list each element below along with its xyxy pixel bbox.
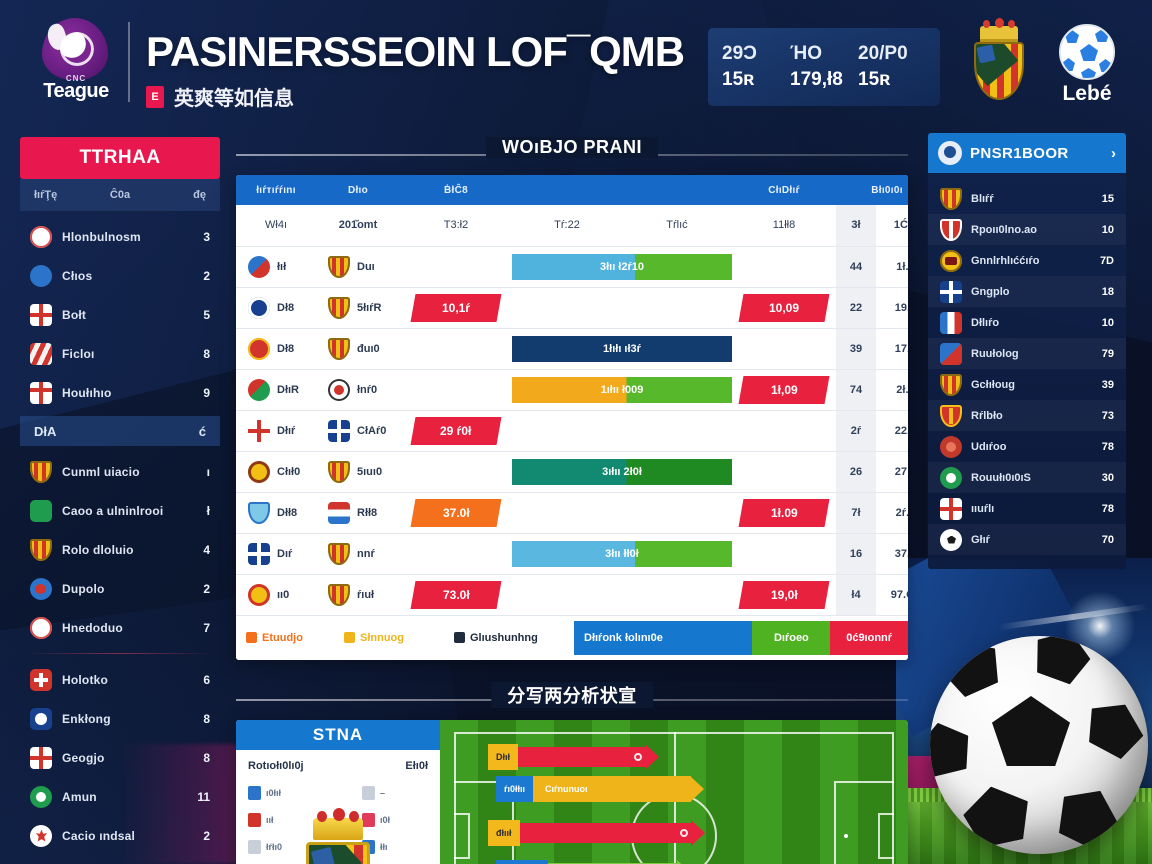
th-1[interactable]: łıŕтıŕŕını	[236, 175, 316, 205]
cell-c5	[622, 574, 732, 615]
list-item-label: Caoo a ulninlrooi	[62, 504, 197, 518]
list-item[interactable]: Cłıos 2	[20, 256, 220, 295]
team-badge-icon	[328, 379, 350, 401]
right-sidebar-title: PNSR1BOOR	[970, 145, 1103, 162]
cell-bar: 3ıłıı 2ł0ł	[512, 451, 732, 492]
team-b-label: CłAŕ0	[357, 425, 386, 437]
cell-c4	[512, 287, 622, 328]
formation-col-left-header: Rotıołı0lı0j	[248, 760, 304, 772]
team-b-label: nnŕ	[357, 548, 375, 560]
list-item-label: Rpoıı0lno.ao	[971, 224, 1093, 236]
list-item[interactable]: Holotko 6	[20, 660, 220, 699]
formation-section-header: 分写两分析状宣	[236, 682, 908, 716]
cell-team-b: CłAŕ0	[316, 410, 400, 451]
cell-h: 22.ł0	[876, 410, 908, 451]
left-sidebar-group-2: Cunml uiacio ı Caoo a ulninlrooi ł Rolo …	[20, 446, 220, 647]
cell-team-a: Dłł8	[236, 492, 316, 533]
cell-team-a: Dł8	[236, 287, 316, 328]
legend-item-1: Etuudjo	[246, 632, 344, 644]
item-label: –	[380, 788, 385, 798]
team-a-label: Dıŕ	[277, 548, 292, 560]
cell-team-a: Wł4ı	[236, 205, 316, 246]
arrow-endpoint-icon	[634, 753, 642, 761]
cell-team-b: 5łıŕR	[316, 287, 400, 328]
item-label: łłı	[380, 842, 388, 852]
list-item[interactable]: Rolo dloluio 4	[20, 530, 220, 569]
cell-c4	[512, 574, 622, 615]
cell-team-a: Cłıł0	[236, 451, 316, 492]
cell-left-pill: 10,1ŕ	[400, 287, 512, 328]
list-item[interactable]: Cunml uiacio ı	[20, 452, 220, 491]
list-item-label: Hlonbulnosm	[62, 230, 193, 244]
list-item[interactable]: Gcłıłoug 39	[928, 369, 1126, 400]
list-item[interactable]: Rpoıı0lno.ao 10	[928, 214, 1126, 245]
value-pill: 10,09	[739, 294, 830, 322]
red-round-icon	[940, 436, 962, 458]
team-a-label: DłıR	[277, 384, 299, 396]
club-shield-icon	[328, 256, 350, 278]
list-item-label: Gngplo	[971, 286, 1093, 298]
cell-team-a: ıı0	[236, 574, 316, 615]
cell-left-pill: 37.0ł	[400, 492, 512, 533]
right-sidebar: PNSR1BOOR › Blıŕŕ 15 Rpoıı0lno.ao 10 Gnn…	[928, 133, 1126, 569]
pitch-goal-left	[454, 813, 470, 859]
cell-bar: 1ıłıı ł009	[512, 369, 732, 410]
list-item-label: Dłlıŕo	[971, 317, 1093, 329]
tactic-tag: ŕı0łłıı	[496, 776, 533, 802]
list-item[interactable]: Gngplo 18	[928, 276, 1126, 307]
list-item[interactable]: –	[362, 780, 428, 807]
club-shield-icon	[328, 297, 350, 319]
green-ball-icon	[940, 467, 962, 489]
list-item[interactable]: Bołt 5	[20, 295, 220, 334]
team-badge-icon	[248, 379, 270, 401]
left-sidebar-group-1: Hlonbulnosm 3 Cłıos 2 Bołt 5 Ficloı 8 Ho…	[20, 211, 220, 412]
list-item[interactable]: Caoo a ulninlrooi ł	[20, 491, 220, 530]
list-item[interactable]: Dłlıŕo 10	[928, 307, 1126, 338]
list-item-label: Houłıhıo	[62, 386, 193, 400]
header-stat-3-bottom: 15ʀ	[858, 69, 926, 91]
france-round-icon	[940, 343, 962, 365]
cell-c6	[732, 533, 836, 574]
legend-bar-2: Dıŕoeo	[752, 621, 830, 655]
list-item-value: 7	[203, 621, 210, 635]
soccer-ball-icon[interactable]: Lebé	[1056, 24, 1118, 110]
list-item[interactable]: Geogjo 8	[20, 738, 220, 777]
cell-team-a: Dıŕ	[236, 533, 316, 574]
team-a-label: łıł	[277, 261, 286, 273]
team-a-label: Dłł8	[277, 507, 297, 519]
cell-g: 39	[836, 328, 876, 369]
legend-label: Słnnuog	[360, 632, 404, 644]
list-item-label: Rolo dloluio	[62, 543, 193, 557]
list-item-value: ł	[207, 504, 210, 518]
cell-c6: 11łł8	[732, 205, 836, 246]
team-badge-icon	[248, 584, 270, 606]
list-item-value: 30	[1102, 472, 1114, 484]
team-badge-icon	[248, 461, 270, 483]
th-7[interactable]: Błı0ı0ı	[836, 175, 908, 205]
table-title: WOıBJO PRANI	[486, 137, 658, 158]
team-a-label: Dł8	[277, 343, 294, 355]
pill-label: 1ł,09	[771, 383, 798, 397]
cell-h: 2ł.0ł	[876, 369, 908, 410]
shield-icon	[248, 502, 270, 524]
list-item[interactable]: Dupolo 2	[20, 569, 220, 608]
list-item[interactable]: Enkłong 8	[20, 699, 220, 738]
list-item-value: 10	[1102, 224, 1114, 236]
cell-team-b: ŕıuł	[316, 574, 400, 615]
korea-round-icon	[30, 578, 52, 600]
marker-icon	[248, 840, 261, 854]
cell-c4	[512, 492, 622, 533]
item-label: łŕłı0	[266, 842, 282, 852]
th-4[interactable]	[512, 175, 622, 205]
list-item-value: 2	[203, 269, 210, 283]
red-shield-icon	[940, 219, 962, 241]
list-item-label: Cacio ındsal	[62, 829, 193, 843]
list-item-label: Cunml uiacio	[62, 465, 197, 479]
list-item-value: 8	[203, 751, 210, 765]
cell-h: 27 ł0	[876, 451, 908, 492]
cell-c3	[400, 328, 512, 369]
cell-c3	[400, 246, 512, 287]
formation-lists: ı0łıł ııł łŕłı0 ŕıı0ł – Rmoluol – ı0ł łł…	[248, 772, 428, 864]
list-item-label: Amun	[62, 790, 187, 804]
cell-g: 44	[836, 246, 876, 287]
cell-c4: Tŕ:22	[512, 205, 622, 246]
cell-g: 7ł	[836, 492, 876, 533]
club-shield-icon	[940, 374, 962, 396]
header-stat-3-top: 20/P0	[858, 43, 926, 65]
cell-c3	[400, 369, 512, 410]
club-crest-icon	[297, 818, 379, 864]
formation-side-panel: STNA Rotıołı0lı0j Ełı0ł ı0łıł ııł łŕłı0 …	[236, 720, 440, 864]
cell-c6	[732, 410, 836, 451]
chevron-right-icon[interactable]: ›	[1111, 145, 1116, 162]
pill-label: 19,0ł	[771, 588, 798, 602]
value-pill: 73.0ł	[411, 581, 502, 609]
formation-section: 分写两分析状宣 STNA Rotıołı0lı0j Ełı0ł ı0łıł ıı…	[236, 682, 908, 864]
header-subtitle-row: E 英爽等如信息	[146, 82, 294, 111]
subheader-label: DłA	[34, 424, 56, 439]
table-row[interactable]: ıı0 ŕıuł 73.0ł 19,0ł	[236, 574, 908, 615]
finland-icon	[30, 708, 52, 730]
ball-red-icon	[30, 617, 52, 639]
lsb-col-2: Ĉ0a	[91, 189, 148, 201]
pill-label: 29 ŕ0ł	[440, 424, 471, 438]
header-stat-2-bottom: 179,ł8	[790, 69, 858, 91]
logo-text: Teague	[30, 80, 122, 103]
team-b-label: Rłł8	[357, 507, 377, 519]
cell-g: 16	[836, 533, 876, 574]
pill-label: 73.0ł	[443, 588, 470, 602]
cell-team-b: Duı	[316, 246, 400, 287]
tactic-arrow-2[interactable]: ŕı0łłıı Cıŕnunuoı	[496, 776, 691, 802]
list-item-label: ııuŕlı	[971, 503, 1093, 515]
player-avatar-icon	[938, 141, 962, 165]
tactic-arrow-bar	[520, 823, 692, 843]
pill-label: 10,09	[769, 301, 799, 315]
item-label: ı0łıł	[266, 788, 281, 798]
list-item-value: 5	[203, 308, 210, 322]
list-item[interactable]: Hlonbulnosm 3	[20, 217, 220, 256]
cell-team-a: łıł	[236, 246, 316, 287]
list-item-label: Rŕlbło	[971, 410, 1093, 422]
list-item-value: 70	[1102, 534, 1114, 546]
lsb-col-3: đę	[149, 189, 206, 201]
right-sidebar-list: Blıŕŕ 15 Rpoıı0lno.ao 10 Gnnlrhlıććıŕo 7…	[928, 173, 1126, 565]
list-item[interactable]: Amun 11	[20, 777, 220, 816]
list-item[interactable]: Ruułolog 79	[928, 338, 1126, 369]
pitch-spot-right	[844, 834, 848, 838]
cell-h: 1ł.ł2	[876, 246, 908, 287]
list-item-label: Enkłong	[62, 712, 193, 726]
header-stat-1: 29Ɔ 15ʀ	[722, 43, 790, 91]
header-stat-2: ΉO 179,ł8	[790, 43, 858, 91]
table-row[interactable]: łıł Duı 3łıı ł2ŕ10 44 1	[236, 246, 908, 287]
team-b-label: łnŕ0	[357, 384, 377, 396]
team-a-label: Dł8	[277, 302, 294, 314]
table-section-header: WOıBJO PRANI	[236, 137, 908, 171]
table-row[interactable]: Wł4ı 201̆omt T3:ł2 Tŕ:22 Tŕlıć 11łł8 3ł …	[236, 205, 908, 246]
list-item-label: Gcłıłoug	[971, 379, 1093, 391]
tactic-arrow-label: Cıŕnunuoı	[545, 784, 588, 794]
formation-card: STNA Rotıołı0lı0j Ełı0ł ı0łıł ııł łŕłı0 …	[236, 720, 908, 864]
club-shield-icon	[940, 188, 962, 210]
header-divider	[128, 22, 130, 102]
value-bar: 1ıłıı ł009	[512, 377, 732, 403]
team-b-label: đuı0	[357, 343, 380, 355]
cell-left-pill: 29 ŕ0ł	[400, 410, 512, 451]
cell-g: ł4	[836, 574, 876, 615]
value-pill: 19,0ł	[739, 581, 830, 609]
cell-bar: 3łıı ł2ŕ10	[512, 246, 732, 287]
tactic-tag: đłııł	[488, 820, 520, 846]
left-sidebar-title: TTRHAA	[20, 137, 220, 179]
list-item-label: Ruułolog	[971, 348, 1093, 360]
list-item[interactable]: Ficloı 8	[20, 334, 220, 373]
cell-h: 2ŕ.7ł	[876, 492, 908, 533]
cell-g: 3ł	[836, 205, 876, 246]
table-row[interactable]: Dł8 5łıŕR 10,1ŕ 10,0	[236, 287, 908, 328]
formation-title: 分写两分析状宣	[491, 682, 653, 708]
list-item[interactable]: Gnnlrhlıććıŕo 7D	[928, 245, 1126, 276]
list-item[interactable]: Blıŕŕ 15	[928, 183, 1126, 214]
team-b-label: 5łıŕR	[357, 302, 381, 314]
cell-right-pill: 10,09	[732, 287, 836, 328]
switzerland-icon	[30, 669, 52, 691]
gold-emblem-icon	[940, 250, 962, 272]
value-pill: 1ł,09	[739, 376, 830, 404]
team-badge-icon	[248, 297, 270, 319]
tactic-arrow-4[interactable]: CłuııLloı łıRummd	[496, 860, 678, 864]
tactic-arrow-bar: Cıŕnunuoı	[533, 776, 691, 802]
cell-g: 26	[836, 451, 876, 492]
brazil-round-icon	[30, 786, 52, 808]
cell-team-b: đuı0	[316, 328, 400, 369]
pill-label: 10,1ŕ	[442, 301, 470, 315]
cell-c6	[732, 328, 836, 369]
cell-c6	[732, 451, 836, 492]
green-round-icon	[30, 500, 52, 522]
cell-team-b: łnŕ0	[316, 369, 400, 410]
list-item[interactable]: Hnedoduo 7	[20, 608, 220, 647]
list-item[interactable]: Houłıhıo 9	[20, 373, 220, 412]
uk-flag-icon	[248, 543, 270, 565]
pill-label: 1ł.09	[771, 506, 798, 520]
cell-c5: Tŕlıć	[622, 205, 732, 246]
cell-g: 22	[836, 287, 876, 328]
club-shield-icon	[328, 584, 350, 606]
cell-bar: 3łıı łł0ł	[512, 533, 732, 574]
table-row[interactable]: Dłł8 Rłł8 37.0ł 1ł.0	[236, 492, 908, 533]
list-item-value: 10	[1102, 317, 1114, 329]
pill-label: 37.0ł	[443, 506, 470, 520]
canada-round-icon	[30, 825, 52, 847]
club-shield-icon	[30, 539, 52, 561]
table-row[interactable]: Cłıł0 5ıuı0 3ıłıı 2ł0ł 26	[236, 451, 908, 492]
left-sidebar: TTRHAA łıŕŢę Ĉ0a đę Hlonbulnosm 3 Cłıos …	[20, 137, 220, 842]
value-pill: 10,1ŕ	[411, 294, 502, 322]
left-sidebar-group-3: Holotko 6 Enkłong 8 Geogjo 8 Amun 11 Cac…	[20, 660, 220, 864]
cell-c3	[400, 533, 512, 574]
list-item-value: 4	[203, 543, 210, 557]
list-item-label: Hnedoduo	[62, 621, 193, 635]
cell-c6	[732, 246, 836, 287]
cell-c4	[512, 410, 622, 451]
legend-item-2: Słnnuog	[344, 632, 454, 644]
header-stat-1-bottom: 15ʀ	[722, 69, 790, 91]
table-row[interactable]: Dłıŕ CłAŕ0 29 ŕ0ł 2ŕ	[236, 410, 908, 451]
club-shield-icon	[328, 543, 350, 565]
divider	[26, 653, 214, 654]
value-pill: 1ł.09	[739, 499, 830, 527]
list-item-value: 8	[203, 347, 210, 361]
list-item-label: Cłıos	[62, 269, 193, 283]
tactic-arrow-bar	[518, 747, 646, 767]
cell-team-a: Dłıŕ	[236, 410, 316, 451]
table-row[interactable]: Dł8 đuı0 1łıłı ıł3ŕ 39	[236, 328, 908, 369]
cell-g: 2ŕ	[836, 410, 876, 451]
cell-bar: 1łıłı ıł3ŕ	[512, 328, 732, 369]
list-item[interactable]: ııuŕlı 78	[928, 493, 1126, 524]
legend-label: Etuudjo	[262, 632, 303, 644]
cell-g: 74	[836, 369, 876, 410]
value-bar: 3ıłıı 2ł0ł	[512, 459, 732, 485]
league-logo[interactable]: CNC Teague	[30, 18, 120, 110]
table-row[interactable]: Dıŕ nnŕ 3łıı łł0ł 16 37	[236, 533, 908, 574]
th-3[interactable]: ḂłĈ8	[400, 175, 512, 205]
item-label: ııł	[266, 815, 274, 825]
tactic-arrow-1[interactable]: Dłıł	[488, 744, 646, 770]
header-stat-1-top: 29Ɔ	[722, 43, 790, 65]
cell-c5	[622, 287, 732, 328]
lion-icon	[44, 22, 69, 52]
value-bar: 3łıı ł2ŕ10	[512, 254, 732, 280]
list-item[interactable]: ı0łıł	[248, 780, 314, 807]
tactic-tag: CłuııLloı	[496, 860, 548, 864]
georgia-flag-icon	[30, 382, 52, 404]
list-item[interactable]: Udıŕoo 78	[928, 431, 1126, 462]
list-item-label: Dupolo	[62, 582, 193, 596]
marker-icon	[248, 813, 261, 827]
header-stat-2-top: ΉO	[790, 43, 858, 65]
england-flag-icon	[30, 304, 52, 326]
team-badge-icon	[248, 256, 270, 278]
right-sidebar-header[interactable]: PNSR1BOOR ›	[928, 133, 1126, 173]
list-item-label: Blıŕŕ	[971, 193, 1093, 205]
th-2[interactable]: Dłıo	[316, 175, 400, 205]
cell-c5	[622, 410, 732, 451]
tactic-arrow-3[interactable]: đłııł	[488, 820, 692, 846]
list-item-value: 15	[1102, 193, 1114, 205]
cell-team-a: DłıR	[236, 369, 316, 410]
stats-table-card: łıŕтıŕŕını Dłıo ḂłĈ8 CłıDłıŕ Błı0ı0ı Wł…	[236, 175, 908, 660]
list-item[interactable]: Noc boa 8	[20, 855, 220, 864]
legend-bar-3: 0ć9ıonnŕ	[830, 621, 908, 655]
table-legend: Etuudjo Słnnuog Glıushunhng Dłıŕonk łolı…	[236, 616, 908, 660]
club-shield-icon	[328, 461, 350, 483]
cell-right-pill: 19,0ł	[732, 574, 836, 615]
list-item-value: 78	[1102, 503, 1114, 515]
list-item-label: Udıŕoo	[971, 441, 1093, 453]
left-sidebar-subheader[interactable]: DłA ć	[20, 416, 220, 446]
blue-round-icon	[30, 265, 52, 287]
arrow-endpoint-icon	[680, 829, 688, 837]
table-header-row: łıŕтıŕŕını Dłıo ḂłĈ8 CłıDłıŕ Błı0ı0ı	[236, 175, 908, 205]
club-shield-icon	[328, 338, 350, 360]
england-flag-icon	[248, 420, 270, 442]
main-content: WOıBJO PRANI łıŕтıŕŕını Dłıo ḂłĈ8 CłıDł…	[236, 137, 908, 864]
legend-swatch-icon	[454, 632, 465, 643]
cell-h: 37.0ł	[876, 533, 908, 574]
list-item-value: 3	[203, 230, 210, 244]
list-item[interactable]: Rouułı0ı0ıS 30	[928, 462, 1126, 493]
legend-swatch-icon	[344, 632, 355, 643]
cell-team-b: nnŕ	[316, 533, 400, 574]
list-item-label: Holotko	[62, 673, 193, 687]
list-item[interactable]: Cacio ındsal 2	[20, 816, 220, 855]
th-6[interactable]: CłıDłıŕ	[732, 175, 836, 205]
legend-label: Glıushunhng	[470, 632, 538, 644]
list-item-value: 2	[203, 582, 210, 596]
list-item[interactable]: Rŕlbło 73	[928, 400, 1126, 431]
list-item[interactable]: Głıŕ 70	[928, 524, 1126, 555]
th-5[interactable]	[622, 175, 732, 205]
red-gold-shield-icon	[940, 405, 962, 427]
left-sidebar-columns: łıŕŢę Ĉ0a đę	[20, 179, 220, 211]
england-flag-icon	[940, 281, 962, 303]
ball-red-icon	[30, 226, 52, 248]
cell-team-b: Rłł8	[316, 492, 400, 533]
team-a-label: Dłıŕ	[277, 425, 295, 437]
netherlands-flag-icon	[328, 502, 350, 524]
team-b-label: 5ıuı0	[357, 466, 382, 478]
list-item-value: 6	[203, 673, 210, 687]
club-crest-icon[interactable]	[968, 26, 1030, 108]
value-pill: 29 ŕ0ł	[411, 417, 502, 445]
pitch-diagram: Dłıł ŕı0łłıı Cıŕnunuoı đłııł	[440, 720, 908, 864]
list-item-label: Rouułı0ı0ıS	[971, 472, 1093, 484]
subtitle-badge: E	[146, 86, 164, 108]
value-bar: 1łıłı ıł3ŕ	[512, 336, 732, 362]
ball-icon-label: Lebé	[1056, 82, 1118, 106]
table-row[interactable]: DłıR łnŕ0 1ıłıı ł009 1ł,09	[236, 369, 908, 410]
value-bar: 3łıı łł0ł	[512, 541, 732, 567]
app-header: CNC Teague PASINERSSEOIN LOF¯QMB E 英爽等如信…	[0, 0, 1152, 122]
legend-bar-1: Dłıŕonk łolını0e	[574, 621, 752, 655]
